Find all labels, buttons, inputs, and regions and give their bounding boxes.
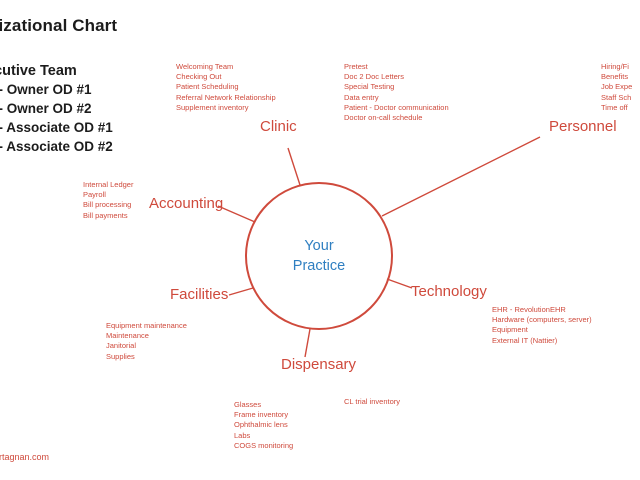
connector-dispensary (305, 329, 310, 357)
connector-technology (387, 279, 412, 288)
detail-item: Doc 2 Doc Letters (344, 72, 449, 82)
detail-item: External IT (Nattier) (492, 336, 592, 346)
watermark-text: edartagnan.com (0, 452, 49, 462)
connector-accounting (218, 206, 255, 222)
detail-item: Hiring/Fi (601, 62, 632, 72)
detail-item: Welcoming Team (176, 62, 276, 72)
detail-item: Supplies (106, 352, 187, 362)
detail-item: Maintenance (106, 331, 187, 341)
detail-list-facilities: Equipment maintenance Maintenance Janito… (106, 321, 187, 362)
detail-item: Equipment maintenance (106, 321, 187, 331)
detail-list-dispensary-right: CL trial inventory (344, 397, 400, 407)
connector-clinic (288, 148, 300, 185)
detail-list-personnel: Hiring/Fi Benefits Job Expe Staff Sch Ti… (601, 62, 632, 113)
detail-list-clinic-right: Pretest Doc 2 Doc Letters Special Testin… (344, 62, 449, 123)
detail-item: Ophthalmic lens (234, 420, 293, 430)
detail-item: Internal Ledger (83, 180, 133, 190)
hub-circle: Your Practice (245, 182, 393, 330)
detail-item: Checking Out (176, 72, 276, 82)
detail-item: Bill payments (83, 211, 133, 221)
detail-item: Patient Scheduling (176, 82, 276, 92)
detail-item: Payroll (83, 190, 133, 200)
detail-item: Data entry (344, 93, 449, 103)
detail-item: Referral Network Relationship (176, 93, 276, 103)
detail-list-technology: EHR - RevolutionEHR Hardware (computers,… (492, 305, 592, 346)
node-dispensary[interactable]: Dispensary (281, 356, 356, 373)
detail-item: Patient - Doctor communication (344, 103, 449, 113)
detail-item: Pretest (344, 62, 449, 72)
detail-item: Frame inventory (234, 410, 293, 420)
detail-item: Staff Sch (601, 93, 632, 103)
node-facilities[interactable]: Facilities (170, 286, 228, 303)
detail-item: CL trial inventory (344, 397, 400, 407)
detail-item: Bill processing (83, 200, 133, 210)
connector-personnel (382, 137, 540, 216)
node-accounting[interactable]: Accounting (149, 195, 223, 212)
detail-item: Equipment (492, 325, 592, 335)
detail-list-dispensary-left: Glasses Frame inventory Ophthalmic lens … (234, 400, 293, 451)
detail-item: Supplement inventory (176, 103, 276, 113)
detail-item: Glasses (234, 400, 293, 410)
detail-item: Labs (234, 431, 293, 441)
node-clinic[interactable]: Clinic (260, 118, 297, 135)
detail-item: Time off (601, 103, 632, 113)
hub-label-line1: Your (304, 236, 333, 256)
detail-item: Doctor on-call schedule (344, 113, 449, 123)
connector-facilities (229, 288, 253, 295)
org-chart-diagram: nizational Chart ecutive Team P - Owner … (0, 0, 640, 480)
node-technology[interactable]: Technology (411, 283, 487, 300)
detail-item: Job Expe (601, 82, 632, 92)
detail-list-clinic-left: Welcoming Team Checking Out Patient Sche… (176, 62, 276, 113)
detail-item: EHR - RevolutionEHR (492, 305, 592, 315)
detail-item: Benefits (601, 72, 632, 82)
detail-item: COGS monitoring (234, 441, 293, 451)
detail-list-accounting: Internal Ledger Payroll Bill processing … (83, 180, 133, 221)
detail-item: Hardware (computers, server) (492, 315, 592, 325)
node-personnel[interactable]: Personnel (549, 118, 617, 135)
detail-item: Janitorial (106, 341, 187, 351)
detail-item: Special Testing (344, 82, 449, 92)
hub-label-line2: Practice (293, 256, 345, 276)
